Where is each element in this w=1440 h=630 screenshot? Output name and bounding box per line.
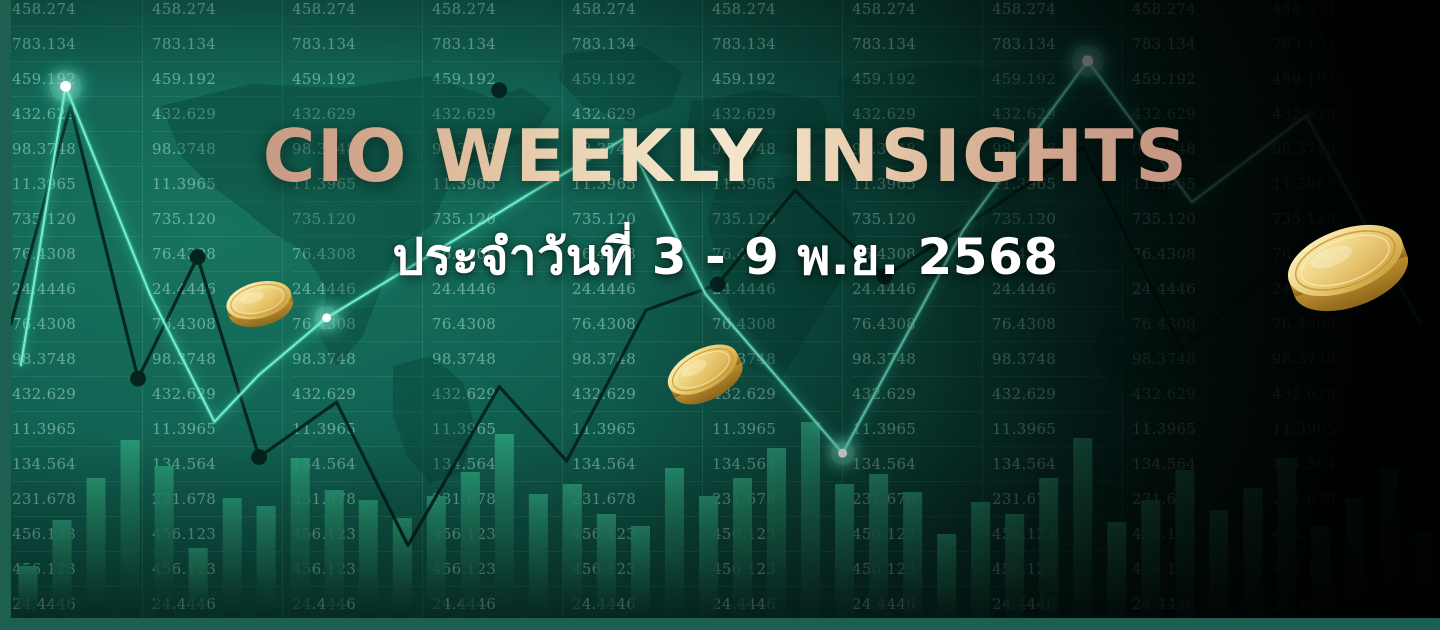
chart-node-glow	[1082, 55, 1093, 66]
chart-node-dark	[491, 82, 507, 98]
chart-node-dark	[251, 449, 267, 465]
page-title: CIO WEEKLY INSIGHTS	[263, 120, 1189, 192]
chart-node-glow	[838, 449, 847, 458]
gold-coin-icon	[661, 338, 749, 410]
banner-text-block: CIO WEEKLY INSIGHTS ประจำวันที่ 3 - 9 พ.…	[11, 120, 1440, 297]
chart-node-glow	[322, 313, 331, 322]
cio-weekly-insights-banner: 458.274783.134459.192432.62998.374811.39…	[0, 0, 1440, 630]
banner-canvas: 458.274783.134459.192432.62998.374811.39…	[11, 0, 1440, 618]
chart-node-dark	[130, 371, 146, 387]
chart-node-glow	[60, 81, 71, 92]
banner-subtitle: ประจำวันที่ 3 - 9 พ.ย. 2568	[11, 218, 1440, 297]
